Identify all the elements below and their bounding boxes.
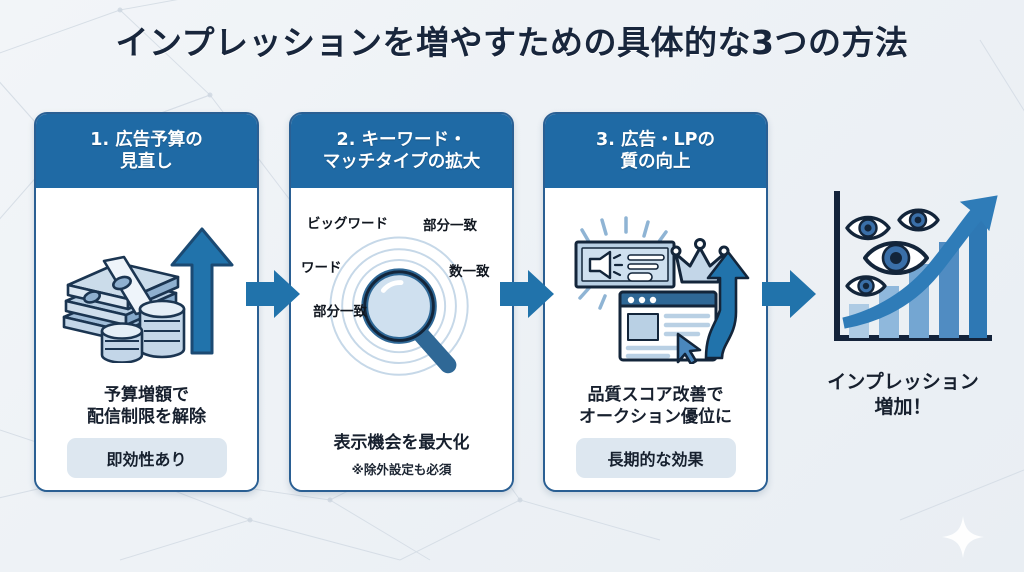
page-title: インプレッションを増やすための具体的な3つの方法 <box>0 16 1024 64</box>
keyword-label-2: 部分一致 <box>423 214 477 234</box>
step-card-3-caption-line1: 品質スコア改善で <box>579 384 732 406</box>
step-card-2-caption-line1: 表示機会を最大化 <box>334 432 470 454</box>
flow-diagram: 1. 広告予算の 見直し <box>0 0 1024 572</box>
step-card-1-body: 予算増額で 配信制限を解除 即効性あり <box>36 188 257 490</box>
result-label: インプレッション 増加！ <box>800 370 1006 420</box>
result-label-line2: 増加！ <box>800 395 1006 420</box>
step-card-1-caption-line2: 配信制限を解除 <box>87 406 206 428</box>
step-card-2-header-line1: 2. キーワード・ <box>323 129 481 151</box>
connector-arrow-3-icon <box>762 268 816 320</box>
keyword-label-3: ワード <box>301 256 342 276</box>
step-card-2-header: 2. キーワード・ マッチタイプの拡大 <box>291 114 512 188</box>
connector-arrow-1-icon <box>246 268 300 320</box>
step-card-1-header-line1: 1. 広告予算の <box>90 129 202 151</box>
step-card-1-badge: 即効性あり <box>67 438 227 478</box>
step-card-3-header-line1: 3. 広告・LPの <box>596 129 715 151</box>
step-card-2-header-line2: マッチタイプの拡大 <box>323 151 481 173</box>
result-label-line1: インプレッション <box>800 370 1006 395</box>
step-card-1-header-line2: 見直し <box>90 151 202 173</box>
step-card-1-caption-line1: 予算増額で <box>87 384 206 406</box>
keyword-label-5: 部分一致 <box>313 300 367 320</box>
step-card-1-caption: 予算増額で 配信制限を解除 <box>87 384 206 428</box>
keyword-label-4: 数一致 <box>449 260 490 280</box>
step-card-1-header: 1. 広告予算の 見直し <box>36 114 257 188</box>
step-card-1-illustration <box>46 194 247 382</box>
page-title-text: インプレッションを増やすための具体的な3つの方法 <box>116 23 909 62</box>
step-card-3-body: 品質スコア改善で オークション優位に 長期的な効果 <box>545 188 766 490</box>
step-card-2-caption: 表示機会を最大化 <box>334 432 470 454</box>
step-card-3-caption: 品質スコア改善で オークション優位に <box>579 384 732 428</box>
step-card-3-badge: 長期的な効果 <box>576 438 736 478</box>
step-card-3-header: 3. 広告・LPの 質の向上 <box>545 114 766 188</box>
step-card-1[interactable]: 1. 広告予算の 見直し <box>34 112 259 492</box>
step-card-3[interactable]: 3. 広告・LPの 質の向上 <box>543 112 768 492</box>
step-card-3-illustration <box>555 194 756 382</box>
ad-banner-crown-browser-icon <box>556 212 756 364</box>
money-stack-arrow-icon <box>52 213 242 363</box>
growth-chart-eyes-icon <box>803 186 1003 358</box>
step-card-2-body: ビッグワード 部分一致 ワード 数一致 部分一致 表示機会を最大化 ※除外設定も… <box>291 188 512 490</box>
step-card-2[interactable]: 2. キーワード・ マッチタイプの拡大 <box>289 112 514 492</box>
step-card-3-header-line2: 質の向上 <box>596 151 715 173</box>
step-card-3-caption-line2: オークション優位に <box>579 406 732 428</box>
connector-arrow-2-icon <box>500 268 554 320</box>
step-card-2-note: ※除外設定も必須 <box>352 459 452 478</box>
step-card-2-illustration: ビッグワード 部分一致 ワード 数一致 部分一致 <box>301 194 502 430</box>
keyword-label-1: ビッグワード <box>307 212 388 232</box>
result-block: インプレッション 増加！ <box>800 186 1006 420</box>
